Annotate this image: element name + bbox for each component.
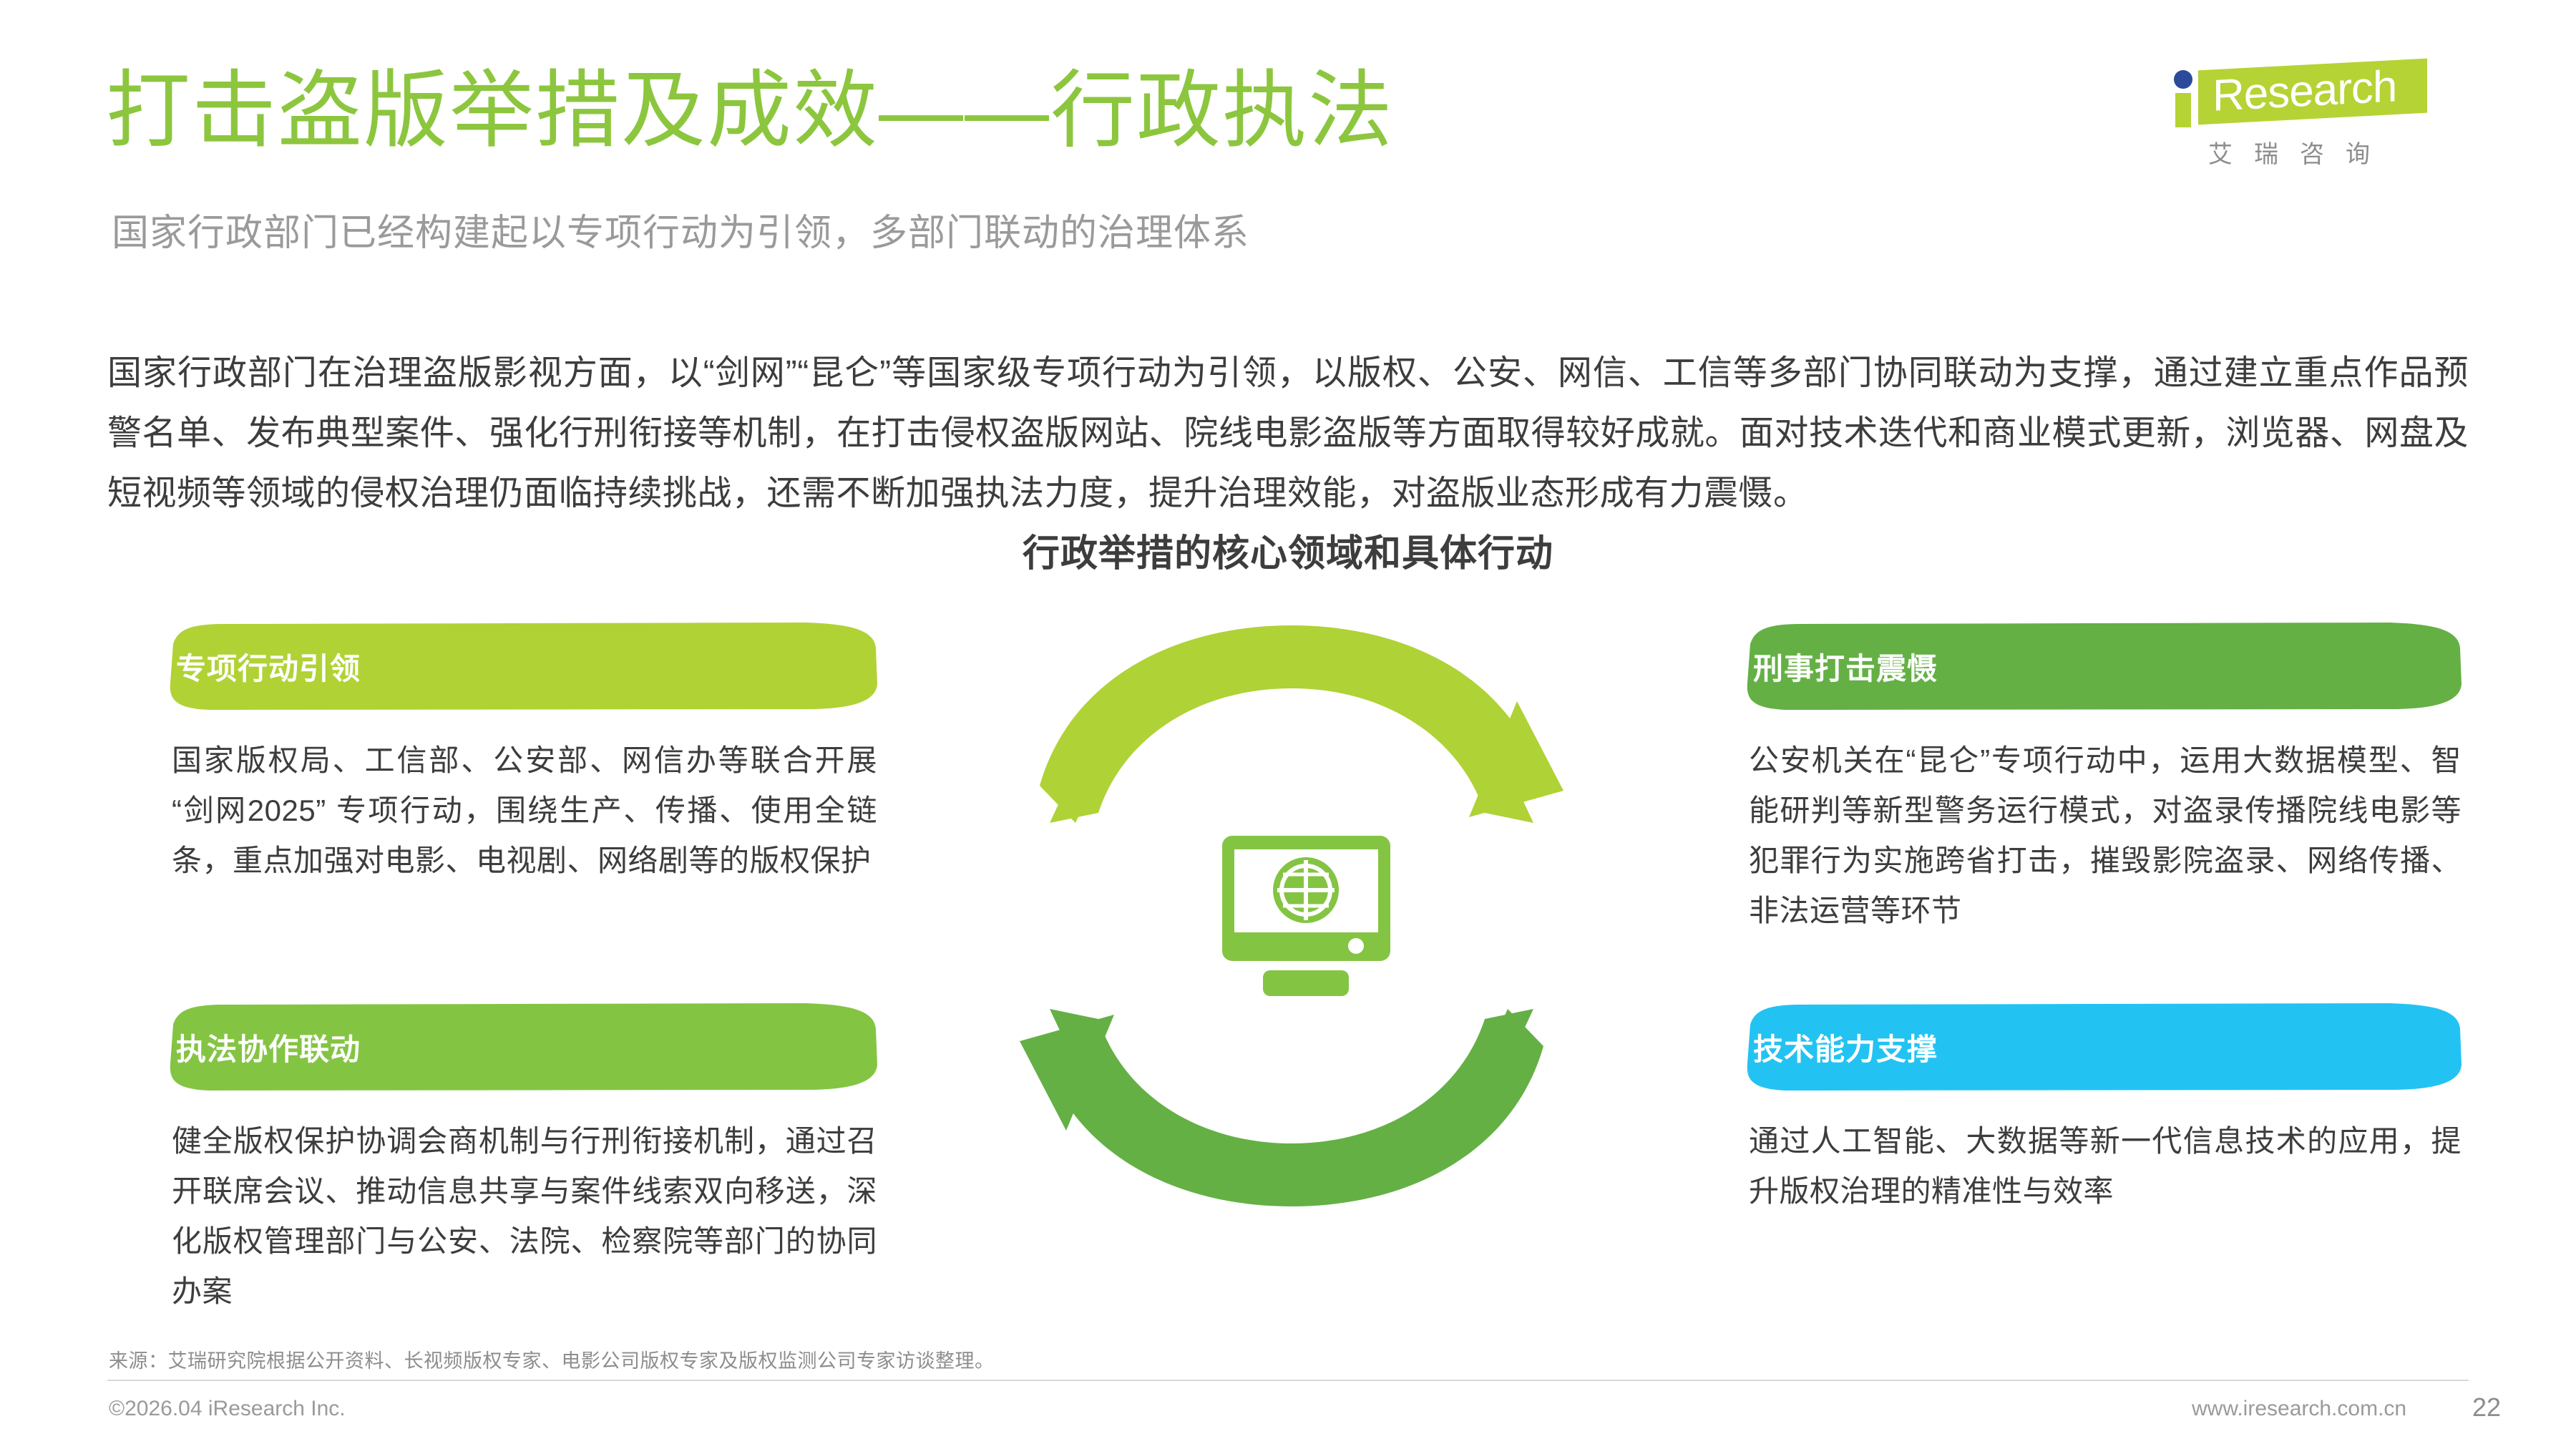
source-note: 来源：艾瑞研究院根据公开资料、长视频版权专家、电影公司版权专家及版权监测公司专家… <box>109 1345 995 1373</box>
footer-divider <box>107 1380 2469 1381</box>
iresearch-logo: Research 艾瑞咨询 <box>2161 60 2462 182</box>
card-technical-support-body: 通过人工智能、大数据等新一代信息技术的应用，提升版权治理的精准性与效率 <box>1717 1116 2462 1216</box>
card-special-action: 专项行动引领 国家版权局、工信部、公安部、网信办等联合开展 “剑网2025” 专… <box>140 623 877 886</box>
card-special-action-body: 国家版权局、工信部、公安部、网信办等联合开展 “剑网2025” 专项行动，围绕生… <box>140 736 877 886</box>
website-url[interactable]: www.iresearch.com.cn <box>2192 1397 2406 1421</box>
logo-mark: Research <box>2161 60 2433 126</box>
page-subtitle: 国家行政部门已经构建起以专项行动为引领，多部门联动的治理体系 <box>112 215 1249 252</box>
card-special-action-label: 专项行动引领 <box>176 645 361 688</box>
card-criminal-deterrence: 刑事打击震慑 公安机关在“昆仑”专项行动中，运用大数据模型、智能研判等新型警务运… <box>1717 623 2462 936</box>
card-technical-support: 技术能力支撑 通过人工智能、大数据等新一代信息技术的应用，提升版权治理的精准性与… <box>1717 1003 2462 1216</box>
page-header: 打击盗版举措及成效——行政执法 国家行政部门已经构建起以专项行动为引领，多部门联… <box>0 0 2576 308</box>
logo-i-dot-icon <box>2174 70 2192 89</box>
copyright-text: ©2026.04 iResearch Inc. <box>109 1397 346 1421</box>
logo-i-stem-icon <box>2175 93 2191 127</box>
card-technical-support-pill: 技术能力支撑 <box>1717 1003 2462 1091</box>
section-heading: 行政举措的核心领域和具体行动 <box>0 531 2576 577</box>
diagram-area: 专项行动引领 国家版权局、工信部、公安部、网信办等联合开展 “剑网2025” 专… <box>0 608 2576 1331</box>
intro-paragraph: 国家行政部门在治理盗版影视方面，以“剑网”“昆仑”等国家级专项行动为引领，以版权… <box>107 343 2469 524</box>
bottom-arrow-icon <box>1020 1009 1543 1206</box>
card-criminal-deterrence-body: 公安机关在“昆仑”专项行动中，运用大数据模型、智能研判等新型警务运行模式，对盗录… <box>1717 736 2462 936</box>
logo-wordmark: Research <box>2212 61 2396 122</box>
card-special-action-pill: 专项行动引领 <box>140 623 877 710</box>
card-technical-support-label: 技术能力支撑 <box>1753 1025 1938 1069</box>
card-enforcement-collaboration: 执法协作联动 健全版权保护协调会商机制与行刑衔接机制，通过召开联席会议、推动信息… <box>140 1003 877 1317</box>
card-enforcement-collaboration-pill: 执法协作联动 <box>140 1003 877 1091</box>
monitor-globe-icon <box>1222 836 1390 996</box>
card-enforcement-collaboration-label: 执法协作联动 <box>176 1025 361 1069</box>
cycle-diagram-icon <box>1020 608 1563 1224</box>
card-enforcement-collaboration-body: 健全版权保护协调会商机制与行刑衔接机制，通过召开联席会议、推动信息共享与案件线索… <box>140 1116 877 1317</box>
card-criminal-deterrence-label: 刑事打击震慑 <box>1753 645 1938 688</box>
card-criminal-deterrence-pill: 刑事打击震慑 <box>1717 623 2462 710</box>
top-arrow-icon <box>1020 625 1563 823</box>
cycle-diagram-svg <box>1020 608 1563 1224</box>
page-number: 22 <box>2472 1392 2501 1423</box>
page-title: 打击盗版举措及成效——行政执法 <box>106 69 1394 153</box>
logo-chinese-name: 艾瑞咨询 <box>2208 135 2423 170</box>
